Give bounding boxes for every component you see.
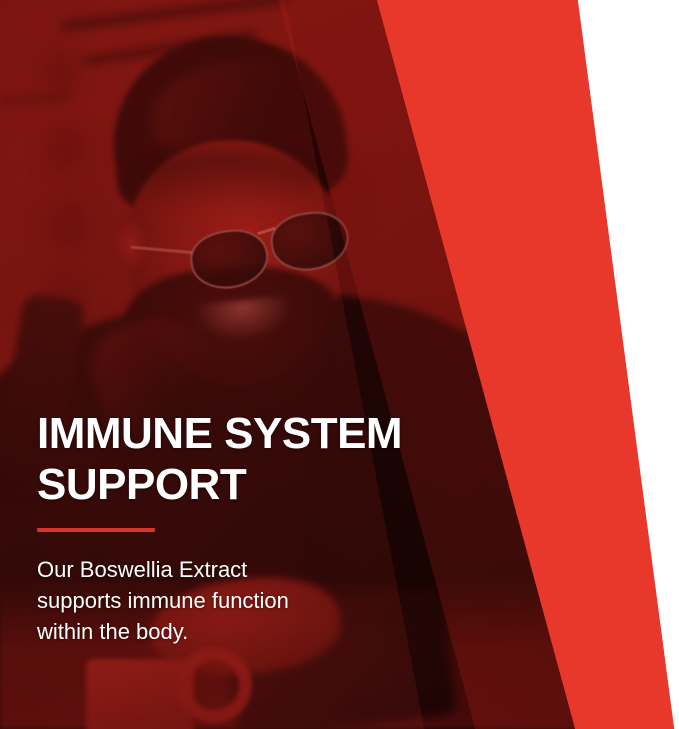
accent-rule [37,528,155,532]
banner-description: Our Boswellia Extract supports immune fu… [37,554,457,647]
page-title: IMMUNE SYSTEM SUPPORT [37,408,457,510]
banner-text-block: IMMUNE SYSTEM SUPPORT Our Boswellia Extr… [37,408,457,647]
promo-banner: IMMUNE SYSTEM SUPPORT Our Boswellia Extr… [0,0,679,729]
